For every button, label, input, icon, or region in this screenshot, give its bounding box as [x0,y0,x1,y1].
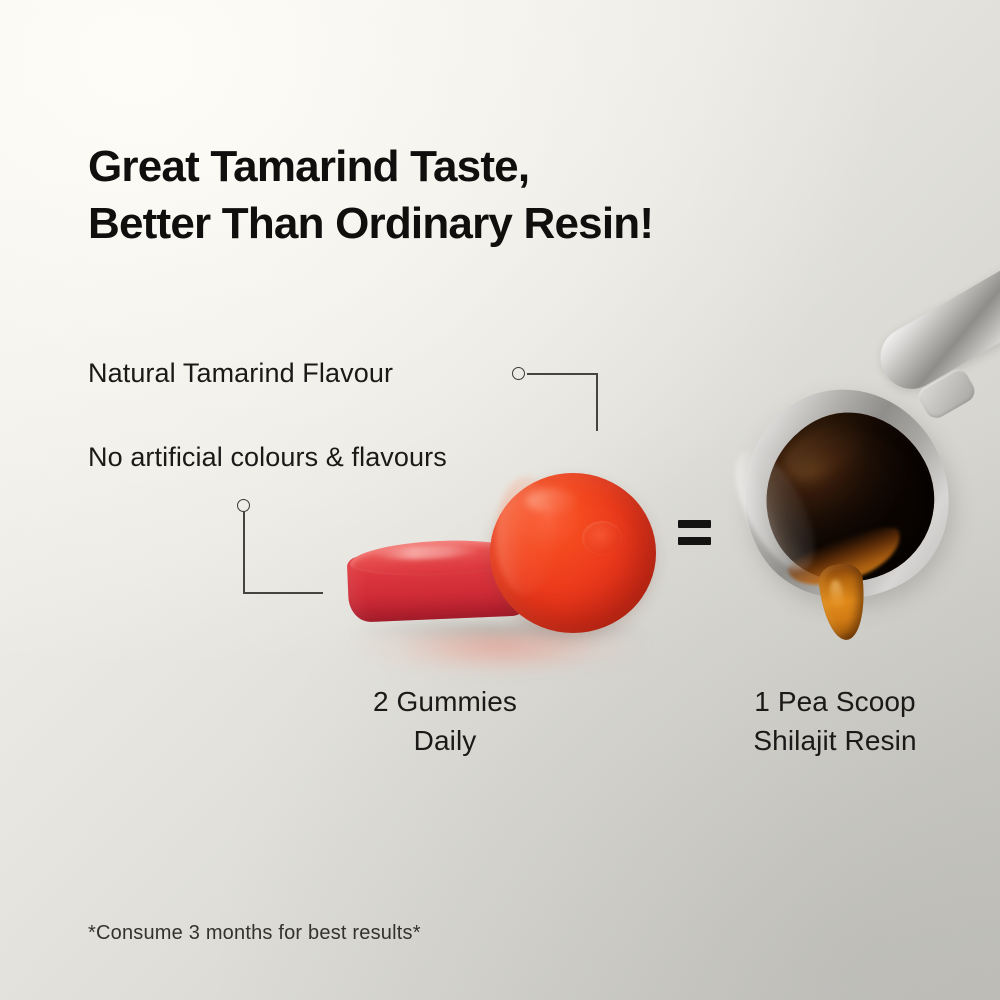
gummy-round-dimple [582,521,622,555]
headline-line-1: Great Tamarind Taste, [88,139,888,195]
leader-line-2-horizontal [243,592,323,594]
caption-resin: 1 Pea Scoop Shilajit Resin [690,682,980,760]
leader-line-1-vertical [596,373,598,431]
leader-dot-icon-1 [512,367,525,380]
product-comparison-poster: Great Tamarind Taste, Better Than Ordina… [0,0,1000,1000]
caption-gummies: 2 Gummies Daily [305,682,585,760]
leader-line-1-horizontal [527,373,598,375]
gummies-image [330,455,680,685]
annotation-label-no-artificial-colours: No artificial colours & flavours [88,440,468,476]
equals-sign-icon [672,520,718,570]
headline-line-2: Better Than Ordinary Resin! [88,196,888,252]
gummy-round-highlight [526,489,578,513]
leader-line-2-vertical [243,512,245,594]
spoon-handle [870,254,1000,400]
shilajit-resin-spoon-image [735,352,1000,672]
caption-gummies-line-2: Daily [305,721,585,760]
equals-bar-top [678,520,711,528]
annotation-label-natural-tamarind-flavour: Natural Tamarind Flavour [88,356,518,392]
resin-drip [817,562,869,642]
gummy-standing-upright [490,473,656,633]
leader-dot-icon-2 [237,499,250,512]
page-title: Great Tamarind Taste, Better Than Ordina… [88,139,888,252]
caption-resin-line-2: Shilajit Resin [690,721,980,760]
equals-bar-bottom [678,537,711,545]
footnote-text: *Consume 3 months for best results* [88,922,421,945]
caption-gummies-line-1: 2 Gummies [305,682,585,721]
caption-resin-line-1: 1 Pea Scoop [690,682,980,721]
